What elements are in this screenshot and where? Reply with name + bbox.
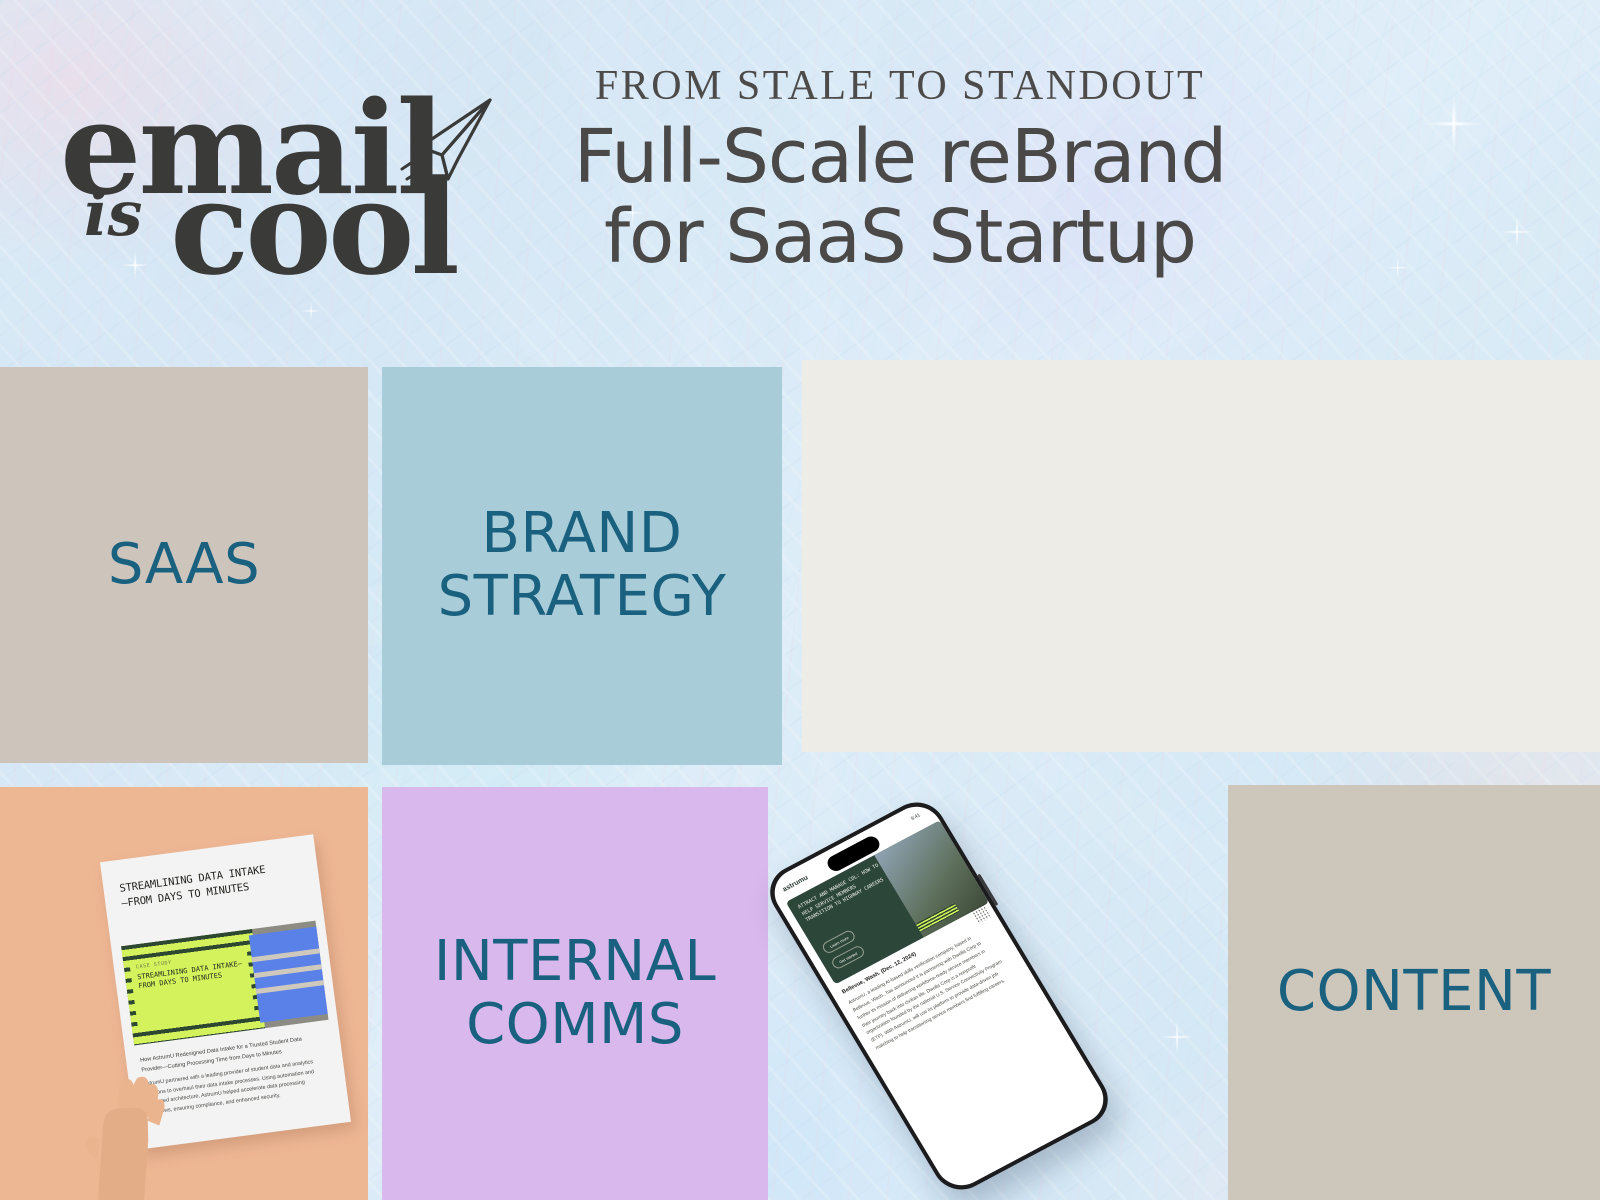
- headline-line-2: for SaaS Startup: [500, 198, 1300, 278]
- header: email is cool FROM STALE TO STANDOUT Ful…: [0, 0, 1600, 360]
- tile-saas: SAAS: [0, 367, 368, 763]
- tile-label-content: CONTENT: [1277, 961, 1551, 1024]
- tile-label-brand-strategy: BRAND STRATEGY: [438, 503, 727, 628]
- graphic-blue-block: [249, 927, 328, 1023]
- case-study-title: STREAMLINING DATA INTAKE —FROM DAYS TO M…: [119, 859, 301, 913]
- tile-brand-strategy: BRAND STRATEGY: [382, 367, 782, 765]
- tile-phone-mockup: astrumu 9:41 ATTRACT AND MANAGE CDL: HOW…: [768, 787, 1220, 1200]
- tile-label-line-1: BRAND: [438, 503, 727, 566]
- blue-block-line: [256, 980, 324, 994]
- tile-label-line-1: INTERNAL: [434, 931, 716, 994]
- header-text-block: FROM STALE TO STANDOUT Full-Scale reBran…: [500, 62, 1300, 278]
- tile-label-line-2: STRATEGY: [438, 566, 727, 629]
- blue-block-line: [254, 964, 322, 978]
- phone-hero-text: ATTRACT AND MANAGE CDL: HOW TO HELP SERV…: [797, 862, 890, 925]
- tile-label-line-2: COMMS: [434, 994, 716, 1057]
- hand-holding-document: [52, 1015, 195, 1200]
- blue-block-line: [252, 948, 320, 962]
- logo-email-is-cool: email is cool: [60, 55, 480, 275]
- phone-status-time: 9:41: [910, 812, 922, 822]
- logo-word-is: is: [84, 183, 142, 245]
- paper-plane-icon: [390, 95, 500, 190]
- tile-case-study: STREAMLINING DATA INTAKE —FROM DAYS TO M…: [0, 787, 368, 1200]
- tile-website-mockup: astrum•u Solutions ⌄ Technology Resource…: [802, 360, 1600, 752]
- header-headline: Full-Scale reBrand for SaaS Startup: [500, 118, 1300, 278]
- phone-wrapper: astrumu 9:41 ATTRACT AND MANAGE CDL: HOW…: [760, 793, 1119, 1199]
- phone-image-stripes: [915, 903, 959, 932]
- phone-screen: astrumu 9:41 ATTRACT AND MANAGE CDL: HOW…: [765, 798, 1112, 1194]
- tile-internal-comms: INTERNAL COMMS: [382, 787, 768, 1200]
- header-eyebrow: FROM STALE TO STANDOUT: [500, 62, 1300, 110]
- tile-label-internal-comms: INTERNAL COMMS: [434, 931, 716, 1056]
- tile-content: CONTENT: [1228, 785, 1600, 1200]
- tile-label-saas: SAAS: [108, 534, 260, 597]
- phone-device: astrumu 9:41 ATTRACT AND MANAGE CDL: HOW…: [760, 793, 1119, 1199]
- headline-line-1: Full-Scale reBrand: [500, 118, 1300, 198]
